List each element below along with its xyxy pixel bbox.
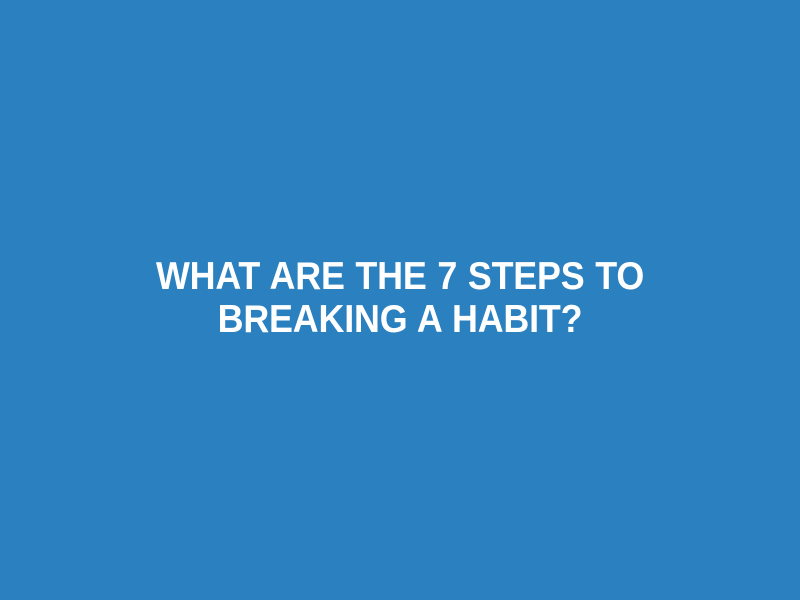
article-header-banner: WHAT ARE THE 7 STEPS TO BREAKING A HABIT…: [0, 0, 800, 600]
page-title: WHAT ARE THE 7 STEPS TO BREAKING A HABIT…: [87, 255, 713, 341]
headline-block: WHAT ARE THE 7 STEPS TO BREAKING A HABIT…: [60, 255, 740, 341]
